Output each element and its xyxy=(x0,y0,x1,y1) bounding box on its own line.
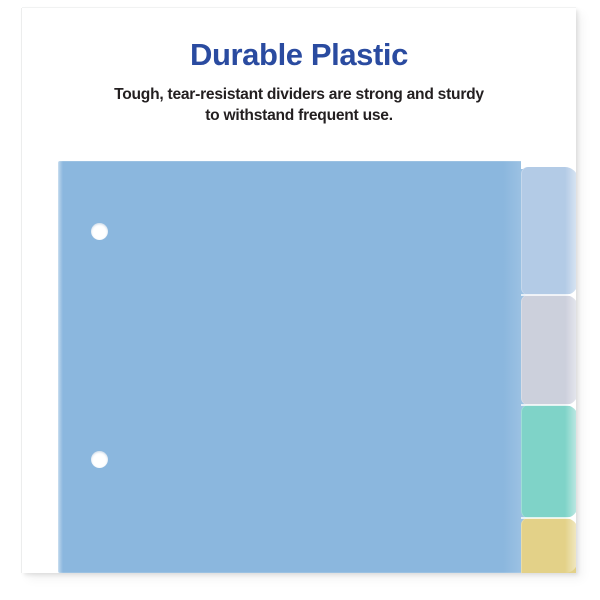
binder-hole-top xyxy=(91,223,108,240)
tab-gray-lavender xyxy=(521,295,576,405)
tab-column xyxy=(521,161,576,573)
tab-yellow xyxy=(521,518,576,573)
tab-separator-2 xyxy=(521,404,576,406)
tab-mint-teal xyxy=(521,405,576,518)
page-title: Durable Plastic xyxy=(22,38,576,72)
subtitle: Tough, tear-resistant dividers are stron… xyxy=(64,84,534,126)
product-marketing-image: Durable Plastic Tough, tear-resistant di… xyxy=(0,0,600,600)
binder-hole-bottom xyxy=(91,451,108,468)
marketing-text-block: Durable Plastic Tough, tear-resistant di… xyxy=(22,38,576,126)
tab-separator-1 xyxy=(521,294,576,296)
tab-light-blue xyxy=(521,167,576,295)
divider-sheet-body xyxy=(58,161,529,573)
subtitle-line-1: Tough, tear-resistant dividers are stron… xyxy=(64,84,534,105)
tab-separator-3 xyxy=(521,517,576,519)
image-frame: Durable Plastic Tough, tear-resistant di… xyxy=(22,8,576,573)
subtitle-line-2: to withstand frequent use. xyxy=(64,105,534,126)
divider-product-photo xyxy=(58,161,576,573)
